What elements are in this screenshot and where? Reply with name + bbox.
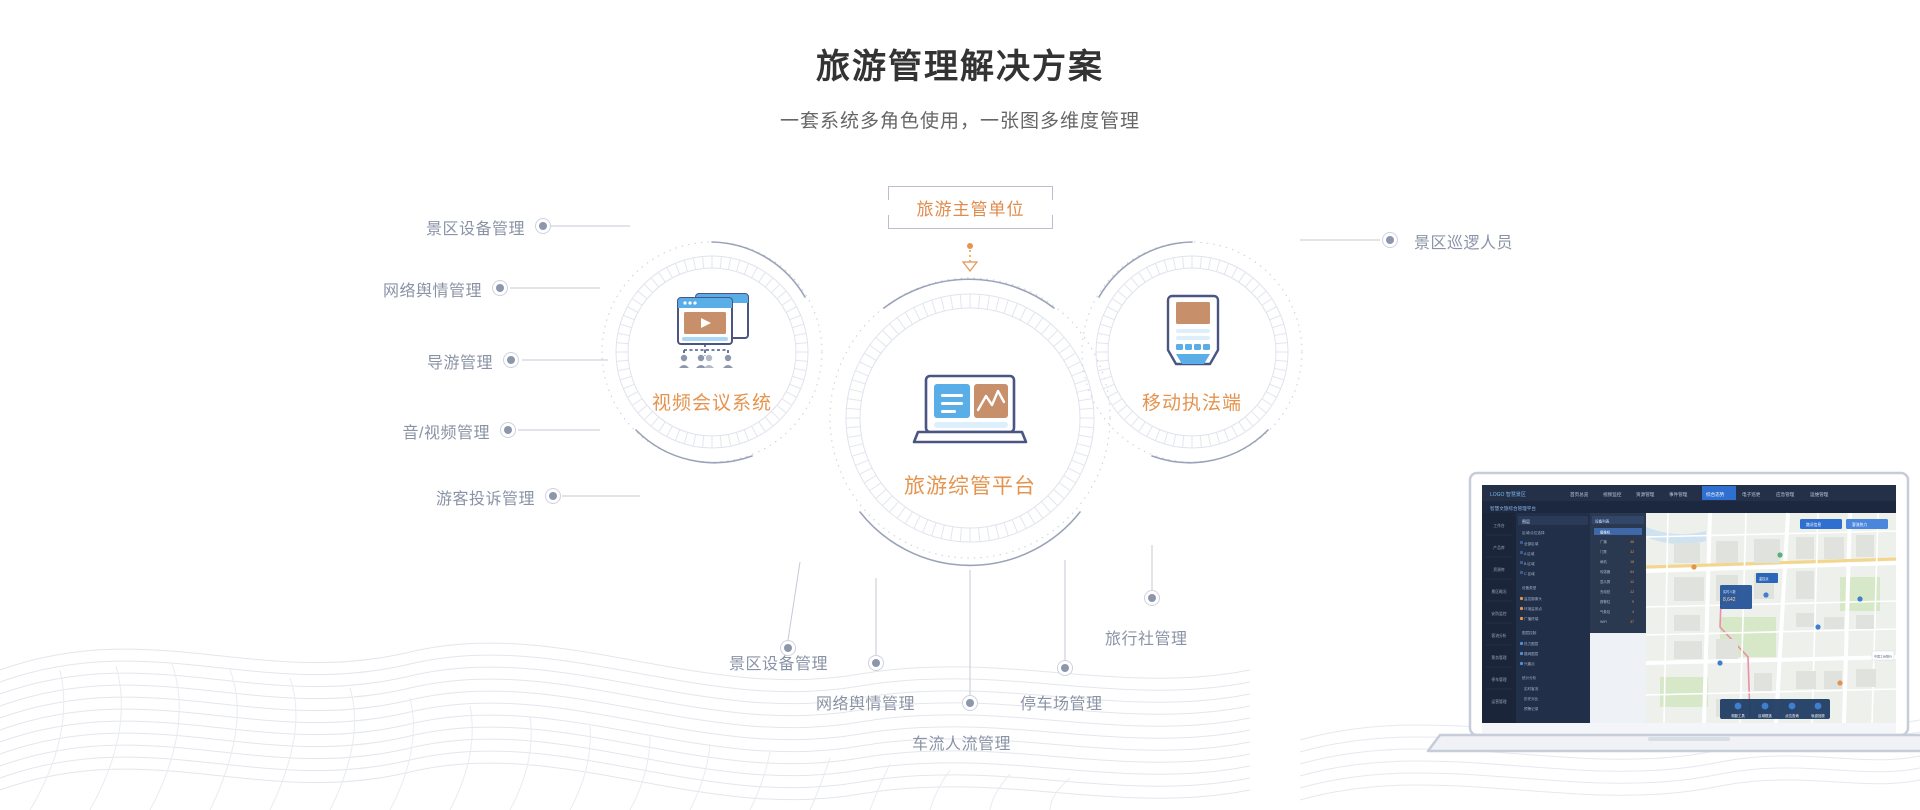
label-bottom-1: 景区设备管理 [729,650,828,674]
label-bottom-5: 旅行社管理 [1105,625,1188,649]
svg-text:产品库: 产品库 [1493,545,1505,550]
svg-text:18: 18 [1630,560,1634,564]
svg-text:运营管理: 运营管理 [1491,699,1506,704]
svg-text:门禁: 门禁 [1600,549,1607,554]
svg-text:A 区域: A 区域 [1524,551,1535,556]
svg-text:票务管理: 票务管理 [1491,655,1506,660]
svg-text:首页总览: 首页总览 [1570,491,1589,498]
corner-bottom-left [888,215,902,229]
svg-text:统计分析: 统计分析 [1522,675,1537,680]
svg-text:轨迹回放: 轨迹回放 [1811,713,1825,718]
label-left-4: 音/视频管理 [268,419,490,443]
page-title: 旅游管理解决方案 [0,46,1920,89]
svg-text:报警柱: 报警柱 [1600,599,1611,604]
label-bottom-3: 车流人流管理 [912,730,1011,754]
svg-text:资源库: 资源库 [1493,567,1505,572]
svg-text:全部区域: 全部区域 [1524,541,1539,546]
svg-text:实时人数: 实时人数 [1723,589,1737,594]
svg-text:停车管理: 停车管理 [1491,677,1506,682]
svg-text:安防监控: 安防监控 [1491,611,1506,616]
svg-text:历史对比: 历史对比 [1524,696,1539,701]
label-bottom-4: 停车场管理 [1020,690,1103,714]
svg-text:8,642: 8,642 [1723,597,1736,603]
svg-text:图层控制: 图层控制 [1522,630,1537,635]
svg-text:路况信息: 路况信息 [1806,522,1821,527]
svg-text:热力图层: 热力图层 [1524,641,1539,646]
header: 旅游管理解决方案 一套系统多角色使用，一张图多维度管理 [0,0,1920,133]
svg-text:智慧文旅综合管理平台: 智慧文旅综合管理平台 [1490,505,1536,512]
svg-text:32: 32 [1630,550,1634,554]
svg-text:充电桩: 充电桩 [1600,589,1611,594]
right-leader-dots [1383,233,1398,248]
label-right-1: 景区巡逻人员 [1414,229,1513,253]
left-leader-dots [493,219,561,504]
svg-text:客流热力: 客流热力 [1852,522,1867,527]
svg-text:64: 64 [1630,570,1634,574]
svg-text:事件管理: 事件管理 [1669,491,1688,498]
edge-top [902,186,1039,187]
svg-text:37: 37 [1630,620,1634,624]
svg-text:运维管理: 运维管理 [1810,491,1829,498]
authority-connector [963,243,977,271]
bottom-leader-lines [788,545,1152,695]
svg-text:B 区域: B 区域 [1524,561,1535,566]
authority-box[interactable]: 旅游主管单位 [888,186,1053,229]
svg-text:监控摄像头: 监控摄像头 [1524,596,1542,601]
handheld-device-icon [1162,292,1224,374]
svg-text:广播: 广播 [1600,539,1607,544]
label-left-5: 游客投诉管理 [308,485,535,509]
svg-text:12: 12 [1630,580,1634,584]
svg-text:设备类型: 设备类型 [1522,585,1537,590]
svg-text:预警记录: 预警记录 [1524,706,1539,711]
label-left-2: 网络舆情管理 [255,277,482,301]
label-bottom-2: 网络舆情管理 [816,690,915,714]
svg-text:LOGO 智慧景区: LOGO 智慧景区 [1490,491,1526,498]
svg-text:监控点: 监控点 [1759,576,1769,581]
svg-text:电子巡更: 电子巡更 [1742,491,1761,498]
svg-text:22: 22 [1630,590,1634,594]
svg-text:C 区域: C 区域 [1524,571,1535,576]
svg-text:环境监测点: 环境监测点 [1524,606,1542,611]
svg-text:闸机: 闸机 [1600,559,1607,564]
svg-text:资源管理: 资源管理 [1636,491,1655,498]
label-left-1: 景区设备管理 [300,215,525,239]
node-caption-tourism-platform: 旅游综管平台 [870,470,1070,500]
svg-text:区域/点位选择: 区域/点位选择 [1522,530,1545,535]
node-caption-mobile-enforcement: 移动执法端 [1102,388,1282,415]
svg-text:路网图层: 路网图层 [1524,651,1539,656]
svg-text:区域框选: 区域框选 [1758,713,1772,718]
svg-text:广播终端: 广播终端 [1524,616,1539,621]
svg-text:设备列表: 设备列表 [1595,519,1610,524]
svg-text:图层: 图层 [1522,518,1530,524]
svg-text:点位查询: 点位查询 [1785,713,1799,718]
svg-text:景区概况: 景区概况 [1491,589,1506,594]
svg-text:测距工具: 测距工具 [1731,713,1745,718]
video-window-icon [670,288,756,368]
laptop-product-mockup: LOGO 智慧景区 首页总览 视频监控 资源管理 事件管理 综合态势 电子巡更 … [1420,467,1920,762]
svg-text:WIFI: WIFI [1600,620,1607,624]
svg-text:气象站: 气象站 [1600,609,1611,614]
laptop-dashboard-icon [908,372,1032,452]
svg-text:工作台: 工作台 [1493,523,1505,528]
svg-text:传感器: 传感器 [1600,569,1611,574]
svg-text:摄像机: 摄像机 [1600,530,1611,535]
svg-text:4: 4 [1632,610,1634,614]
svg-text:客流分析: 客流分析 [1491,633,1506,638]
svg-text:9: 9 [1632,600,1634,604]
edge-bottom [902,228,1039,229]
page-subtitle: 一套系统多角色使用，一张图多维度管理 [0,106,1920,133]
svg-text:兴趣点: 兴趣点 [1524,661,1535,666]
authority-label: 旅游主管单位 [917,195,1025,220]
svg-text:视频监控: 视频监控 [1603,491,1622,498]
corner-top-left [888,186,902,200]
svg-text:中国工商银行: 中国工商银行 [1874,654,1892,659]
svg-text:综合态势: 综合态势 [1706,491,1725,498]
corner-bottom-right [1039,215,1053,229]
svg-text:46: 46 [1630,540,1634,544]
corner-top-right [1039,186,1053,200]
node-caption-video-conference: 视频会议系统 [612,388,812,415]
svg-text:应急管理: 应急管理 [1776,491,1795,498]
svg-text:实时客流: 实时客流 [1524,686,1539,691]
label-left-3: 导游管理 [290,349,493,373]
svg-text:显示屏: 显示屏 [1600,580,1611,584]
